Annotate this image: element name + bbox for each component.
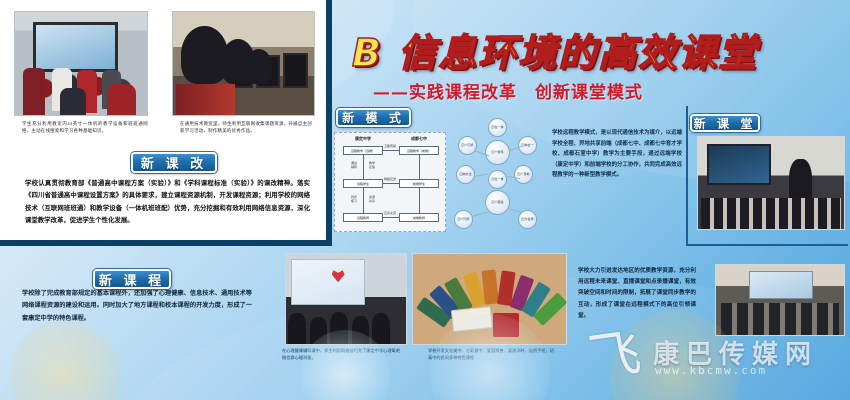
diagram-column-title-left: 康定中学 xyxy=(341,136,385,142)
concept-bubble-center: 四个跟进 xyxy=(485,190,510,215)
photo-school-based-textbooks xyxy=(412,253,567,345)
concept-bubble: 四个落地 xyxy=(514,165,533,184)
photo-caption-top-left: 学生充分利用教室内44英寸一体机的教学设备和班班通网络，主动在线搜索和学习各种基… xyxy=(22,121,148,135)
student-figure xyxy=(23,68,45,115)
watermark: 飞 康巴传媒网 www.kbcmw.com xyxy=(585,330,845,396)
textbook-stack xyxy=(451,306,493,332)
page-title: B 信息环境的高效课堂 xyxy=(352,22,758,77)
audience-row xyxy=(721,303,839,335)
concept-bubble-center: 四个督导 xyxy=(485,140,510,165)
watermark-site-name: 康巴传媒网 xyxy=(653,334,818,371)
diagram-node: 远程教学（前端） xyxy=(399,146,439,155)
photo-students-at-interactive-screen xyxy=(14,11,148,116)
photo-caption-psychology: 在心理健康辅导课中，师生利用网络技巧完了康定中学心理氧吧微信群心理测量。 xyxy=(282,348,400,361)
diagram-node: 远程教学（远端） xyxy=(343,146,383,155)
audience-row xyxy=(701,198,841,229)
new-mode-body: 学校远程教学模式，是以现代通信技术为媒介，以远端学校全程、异地共享前端（成都七中… xyxy=(552,128,682,181)
bubble-connector xyxy=(508,208,522,213)
diagram-edge-label: 课后辅导 xyxy=(351,161,357,169)
concept-bubble: 四个同步 xyxy=(458,136,477,155)
new-reform-body: 学校认真贯彻教育部《普通高中课程方案（实验）》和《学科课程标准（实验）》的课改精… xyxy=(25,178,310,228)
bubble-connector xyxy=(472,212,488,217)
student-uniform xyxy=(176,84,235,115)
featured-textbook xyxy=(493,313,519,337)
audience-figure xyxy=(352,316,369,344)
badge-new-mode[interactable]: 新 模 式 xyxy=(336,108,411,127)
decor-flower xyxy=(10,320,120,400)
diagram-column-title-right: 成都七中 xyxy=(397,136,441,142)
audience-figure xyxy=(288,313,306,344)
page-subtitle: ——实践课程改革 创新课堂模式 xyxy=(373,78,643,103)
projection-screen-icon xyxy=(707,144,771,184)
diagram-edge xyxy=(363,188,364,213)
student-figure xyxy=(60,88,86,115)
concept-bubble: 四位一体 xyxy=(488,170,507,189)
diagram-node: 前端教师 xyxy=(399,213,439,222)
diagram-node: 前端学生 xyxy=(399,179,439,188)
watermark-logo-icon: 飞 xyxy=(585,326,648,389)
diagram-edge xyxy=(383,150,399,151)
badge-new-course[interactable]: 新 课 程 xyxy=(93,269,171,289)
student-figure xyxy=(107,84,136,115)
interactive-whiteboard-icon xyxy=(33,22,117,71)
diagram-edge-label: 资源共享 xyxy=(369,195,375,203)
diagram-link-label: 卫星传输 xyxy=(384,144,396,148)
panel-horizontal-divider xyxy=(0,243,332,246)
remote-teaching-diagram: 康定中学 成都七中 远程教学（远端） 远程学生 远程教师 远程教学（前端） 前端… xyxy=(334,132,446,232)
photo-remote-synchronous-class xyxy=(715,264,845,336)
watermark-url: www.kbcmw.com xyxy=(655,364,767,377)
diagram-edge xyxy=(419,188,420,213)
student-figure xyxy=(246,49,271,84)
audience-figure xyxy=(372,313,390,345)
textbook xyxy=(481,270,498,305)
photo-caption-top-right: 在通用技术教室里，师生利用互联网收集课题资源，开展自主创新学习活动，制作精美的优… xyxy=(180,121,312,135)
new-classroom-body: 学校大力引进发达地区的优质教学资源，充分利用远程未来课堂、直播课堂和点录播课堂，… xyxy=(578,266,696,322)
diagram-edge xyxy=(419,155,420,179)
diagram-edge xyxy=(363,155,364,179)
concept-bubble: 四个同步 xyxy=(454,210,473,229)
panel-vertical-divider xyxy=(329,0,332,246)
projection-screen-icon xyxy=(749,271,813,299)
diagram-edge-label: 同步练习 xyxy=(351,195,357,203)
bubble-connector xyxy=(474,174,488,177)
slide-screen-icon xyxy=(291,259,365,306)
concept-bubble: 四种办法 xyxy=(456,165,475,184)
diagram-node: 远程教师 xyxy=(343,213,383,222)
right-panel-left-divider xyxy=(686,106,688,246)
concept-bubble-cluster: 四位一体 四个同步 四种合一 四个督导 四种办法 四个落地 四位一体 四个跟进 … xyxy=(452,118,548,236)
photo-computer-lab-class xyxy=(172,11,315,116)
diagram-edge xyxy=(383,183,399,184)
badge-new-reform[interactable]: 新 课 改 xyxy=(131,152,217,173)
poster-root: 学生充分利用教室内44英寸一体机的教学设备和班班通网络，主动在线搜索和学习各种基… xyxy=(0,0,850,400)
monitor-icon xyxy=(283,53,308,88)
right-panel-bottom-divider xyxy=(686,244,848,246)
diagram-edge-label: 教学反馈 xyxy=(369,161,375,169)
audience-figure xyxy=(310,317,327,344)
photo-live-broadcast-classroom xyxy=(697,136,845,230)
badge-new-classroom[interactable]: 新 课 堂 xyxy=(690,114,760,132)
diagram-link-label: 互享交流 xyxy=(384,211,396,215)
new-course-body: 学校除了完成教育部规定的基本课程外，还加强了心理健康、信息技术、通用技术等网络课… xyxy=(22,288,252,325)
audience-figure xyxy=(330,312,348,344)
photo-psychology-lecture xyxy=(285,253,407,345)
photo-caption-textbooks: 学校开发文化美中、七彩意中、爱园常善、溪流泮畔、自然手绘、初高中的民间多种特色课… xyxy=(428,348,554,361)
diagram-link-label: 网络互送 xyxy=(384,177,396,181)
diagram-node: 远程学生 xyxy=(343,179,383,188)
diagram-edge xyxy=(383,217,399,218)
concept-bubble: 四位一体 xyxy=(488,118,507,137)
